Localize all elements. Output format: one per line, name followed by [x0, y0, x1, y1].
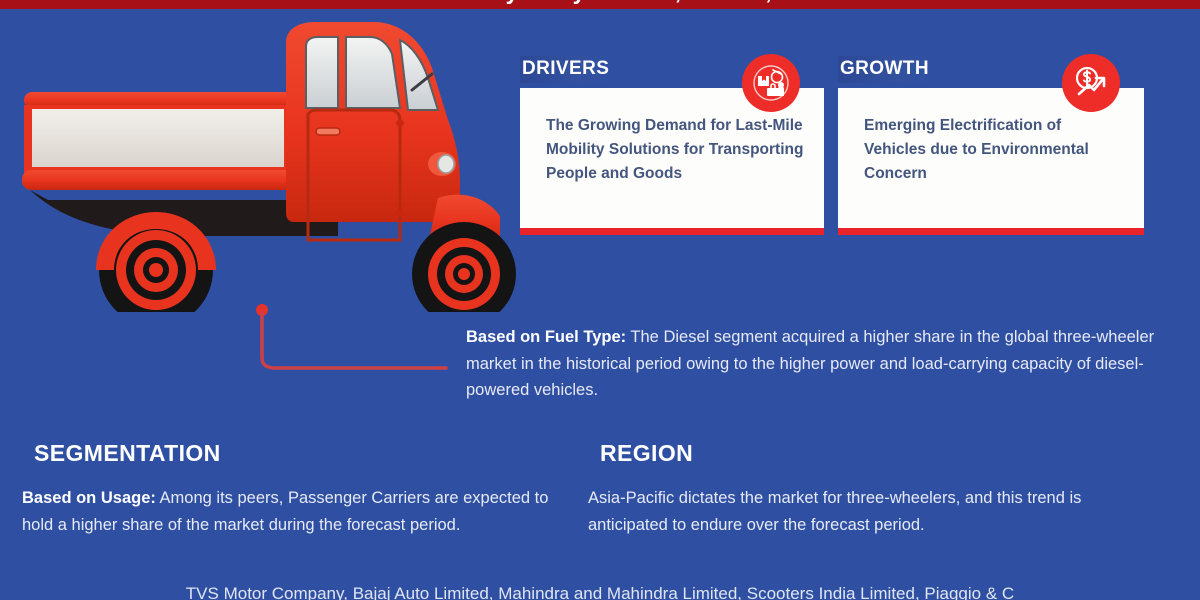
callout-connector	[248, 300, 458, 380]
segmentation-section: SEGMENTATION Based on Usage: Among its p…	[22, 437, 550, 538]
region-body: Asia-Pacific dictates the market for thr…	[588, 485, 1148, 538]
segmentation-lead: Based on Usage:	[22, 489, 156, 507]
top-header-bar: Three-Wheeler Market Analysis by Growth,…	[0, 0, 1200, 9]
region-section: REGION Asia-Pacific dictates the market …	[588, 437, 1148, 538]
fuel-type-note: Based on Fuel Type: The Diesel segment a…	[466, 324, 1178, 404]
drivers-card: DRIVERS The Growing Demand for Last-Mile…	[520, 56, 824, 235]
growth-card-label: GROWTH	[838, 56, 933, 83]
drivers-card-text: The Growing Demand for Last-Mile Mobilit…	[546, 114, 806, 186]
growth-card: GROWTH Emerging Electrification of Vehic…	[838, 56, 1144, 235]
page-title: Three-Wheeler Market Analysis by Growth,…	[0, 0, 1200, 5]
growth-card-body: Emerging Electrification of Vehicles due…	[838, 88, 1144, 235]
key-companies-list: TVS Motor Company, Bajaj Auto Limited, M…	[0, 583, 1200, 600]
key-companies-text: TVS Motor Company, Bajaj Auto Limited, M…	[186, 584, 1014, 600]
region-text: Asia-Pacific dictates the market for thr…	[588, 489, 1081, 534]
dollar-growth-arrow-icon	[1062, 54, 1120, 112]
drivers-card-body: The Growing Demand for Last-Mile Mobilit…	[520, 88, 824, 235]
drivers-card-label: DRIVERS	[520, 56, 613, 83]
infographic-canvas: Three-Wheeler Market Analysis by Growth,…	[0, 0, 1200, 600]
region-heading: REGION	[588, 437, 706, 471]
three-wheeler-illustration	[8, 12, 518, 312]
growth-card-text: Emerging Electrification of Vehicles due…	[864, 114, 1126, 186]
segmentation-heading: SEGMENTATION	[22, 437, 234, 471]
segmentation-body: Based on Usage: Among its peers, Passeng…	[22, 485, 550, 538]
delivery-logistics-icon	[742, 54, 800, 112]
fuel-type-lead: Based on Fuel Type:	[466, 328, 626, 346]
